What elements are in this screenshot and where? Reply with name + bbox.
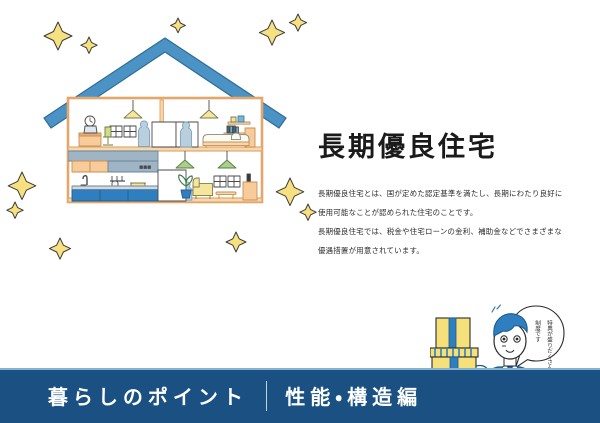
office-chair (105, 127, 111, 137)
body-line-3: 長期優良住宅では、税金や住宅ローンの金利、補助金などでさまざまな (318, 223, 576, 241)
sparkle-icon (276, 178, 304, 206)
sparkle-icon (300, 204, 316, 220)
banner-right-label: 性能・構造編 (285, 381, 422, 410)
cabinet (243, 182, 257, 200)
sparkle-icon (226, 232, 246, 252)
page-title: 長期優良住宅 (318, 133, 576, 163)
sparkle-icon (259, 20, 284, 45)
base-cabinets (72, 189, 158, 201)
sparkle-icon (171, 18, 186, 33)
banner-content: 暮らしのポイント 性能・構造編 (0, 368, 470, 423)
person-figure (138, 121, 149, 147)
laptop (84, 126, 97, 133)
sparkle-icon (289, 14, 306, 31)
bottom-banner: 暮らしのポイント 性能・構造編 (0, 368, 600, 423)
sparkle-icon (81, 37, 97, 53)
sparkle-icon (49, 238, 70, 259)
motion-marks (492, 305, 500, 312)
partition-door (158, 170, 186, 201)
body-line-2: 使用可能なことが認められた住宅のことです。 (318, 204, 576, 222)
upper-cabinets (72, 161, 90, 172)
banner-divider (266, 381, 267, 411)
body-line-1: 長期優良住宅とは、国が定めた認定基準を満たし、長期にわたり良好に (318, 185, 576, 203)
sparkle-icon (7, 202, 23, 218)
bubble-text-left: 制度です (534, 319, 541, 343)
sparkle-icon (44, 22, 72, 50)
body-line-4: 優遇措置が用意されています。 (318, 242, 576, 260)
gift-box (436, 318, 470, 348)
books (227, 126, 238, 133)
gift-box-lid (430, 348, 478, 357)
door (152, 122, 176, 147)
sparkle-icon (8, 172, 36, 200)
person-figure (180, 122, 191, 147)
house-illustration (0, 0, 330, 330)
poster-root: 長期優良住宅 長期優良住宅とは、国が定めた認定基準を満たし、長期にわたり良好に … (0, 0, 600, 423)
banner-left-label: 暮らしのポイント (48, 381, 248, 410)
text-column: 長期優良住宅 長期優良住宅とは、国が定めた認定基準を満たし、長期にわたり良好に … (318, 133, 576, 260)
